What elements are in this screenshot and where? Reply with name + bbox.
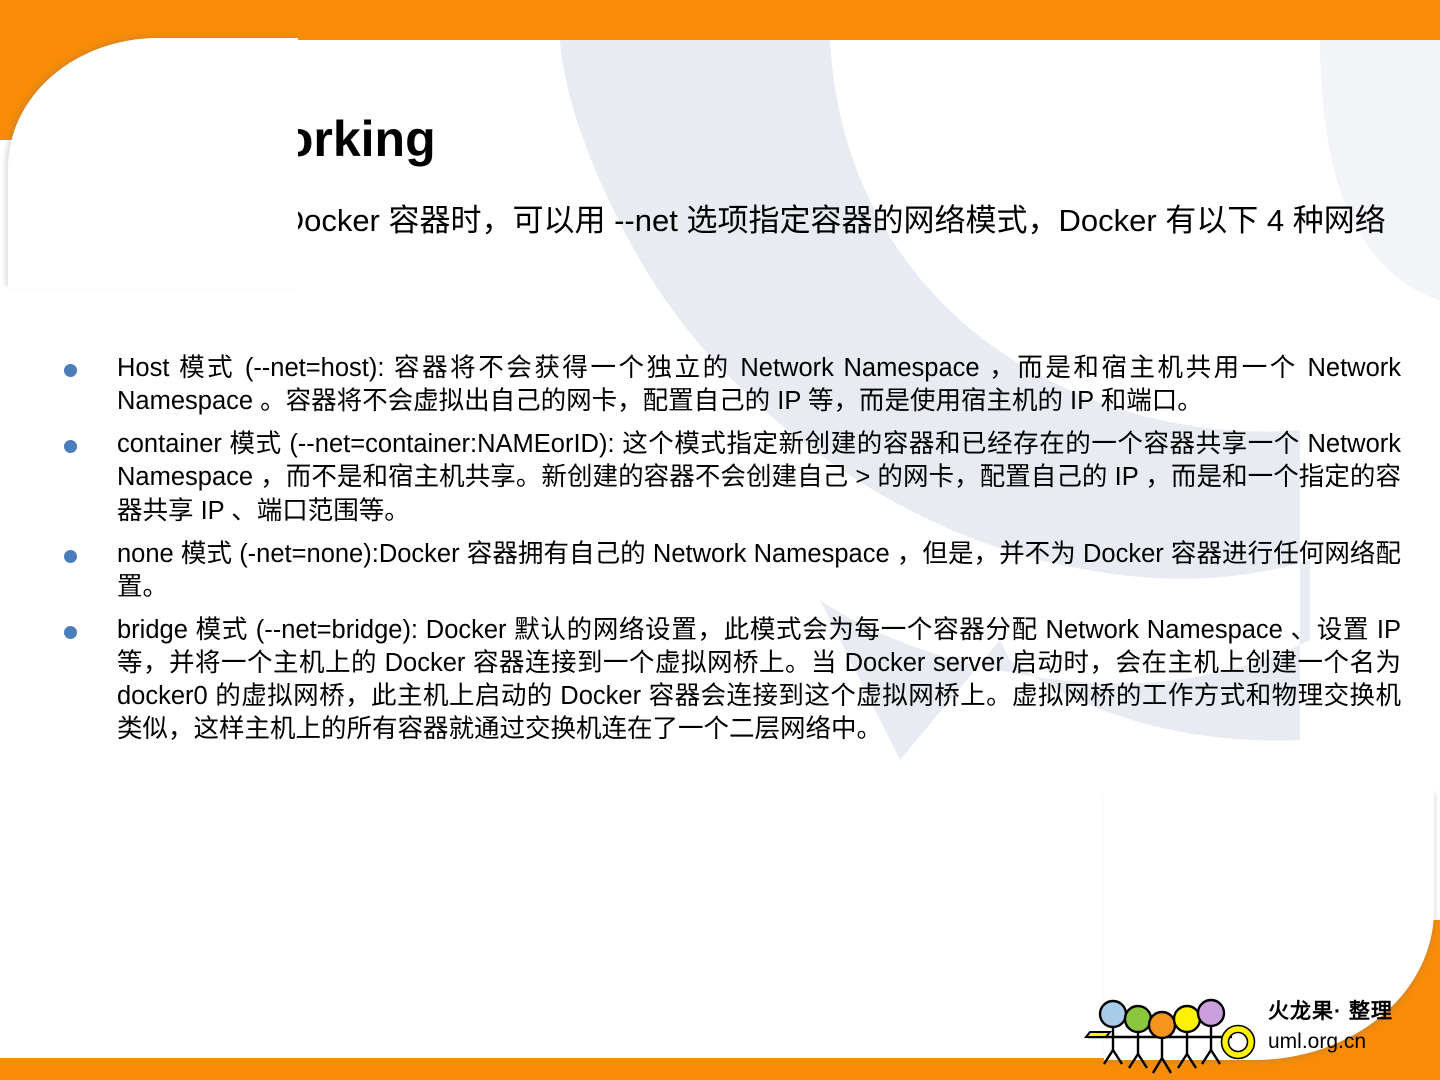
list-item-text: container 模式 (--net=container:NAMEorID):…	[117, 428, 1401, 527]
footer-url: uml.org.cn	[1268, 1031, 1393, 1052]
slide-root: 2.5 Networking docker run 创建 Docker 容器时，…	[0, 0, 1440, 1080]
logo-head-yellow	[1174, 1006, 1200, 1032]
logo-head-orange	[1149, 1012, 1175, 1038]
top-left-orange-corner	[0, 0, 230, 140]
list-item-text: Host 模式 (--net=host): 容器将不会获得一个独立的 Netwo…	[117, 352, 1401, 418]
bullet-dot-icon	[64, 364, 77, 377]
logo-head-blue	[1100, 1001, 1126, 1027]
list-item-bridge-mode: bridge 模式 (--net=bridge): Docker 默认的网络设置…	[56, 614, 1401, 747]
list-item-container-mode: container 模式 (--net=container:NAMEorID):…	[56, 428, 1401, 527]
logo-head-purple	[1198, 1000, 1224, 1026]
network-modes-list: Host 模式 (--net=host): 容器将不会获得一个独立的 Netwo…	[56, 352, 1401, 757]
huolongguo-stick-figures-logo	[1080, 994, 1270, 1074]
footer-brand-block: 火龙果· 整理 uml.org.cn	[1268, 1001, 1393, 1052]
list-item-text: none 模式 (-net=none):Docker 容器拥有自己的 Netwo…	[117, 538, 1401, 604]
bullet-dot-icon	[64, 626, 77, 639]
footer-brand-name: 火龙果· 整理	[1268, 1001, 1393, 1022]
logo-head-green	[1125, 1006, 1151, 1032]
list-item-text: bridge 模式 (--net=bridge): Docker 默认的网络设置…	[117, 614, 1401, 747]
bullet-dot-icon	[64, 550, 77, 563]
list-item-host-mode: Host 模式 (--net=host): 容器将不会获得一个独立的 Netwo…	[56, 352, 1401, 418]
list-item-none-mode: none 模式 (-net=none):Docker 容器拥有自己的 Netwo…	[56, 538, 1401, 604]
bullet-dot-icon	[64, 440, 77, 453]
